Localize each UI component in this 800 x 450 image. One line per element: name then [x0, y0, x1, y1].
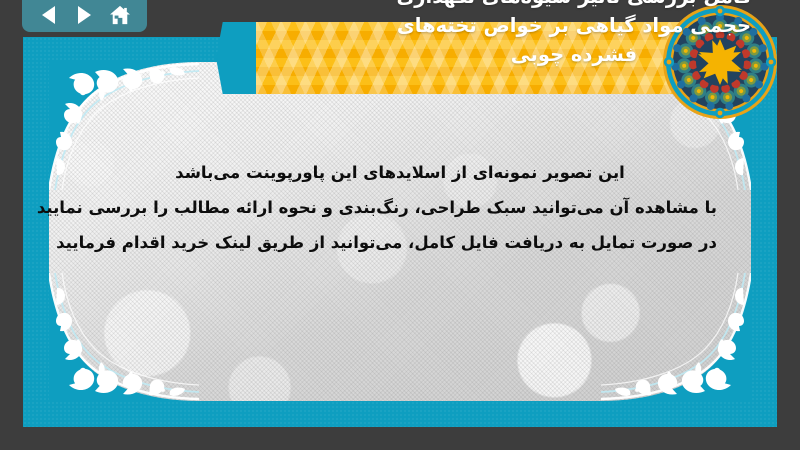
slide-body-text: این تصویر نمونه‌ای از اسلایدهای این پاور…: [83, 155, 717, 260]
banner-pattern: [256, 22, 716, 94]
previous-slide-button[interactable]: [37, 3, 63, 27]
mandala-ornament-icon: [662, 4, 778, 120]
slide-viewer: این تصویر نمونه‌ای از اسلایدهای این پاور…: [0, 0, 800, 450]
home-button[interactable]: [107, 3, 133, 27]
title-banner: [256, 22, 716, 94]
home-icon: [109, 5, 131, 25]
body-line-2: با مشاهده آن می‌توانید سبک طراحی، رنگ‌بن…: [83, 190, 717, 225]
banner-arrow-tail: [216, 22, 258, 94]
slide-navigation-bar: [22, 0, 147, 32]
triangle-right-icon: [78, 6, 91, 24]
body-line-3: در صورت تمایل به دریافت فایل کامل، می‌تو…: [83, 225, 717, 260]
next-slide-button[interactable]: [72, 3, 98, 27]
body-line-1: این تصویر نمونه‌ای از اسلایدهای این پاور…: [83, 155, 717, 190]
triangle-left-icon: [42, 6, 55, 24]
